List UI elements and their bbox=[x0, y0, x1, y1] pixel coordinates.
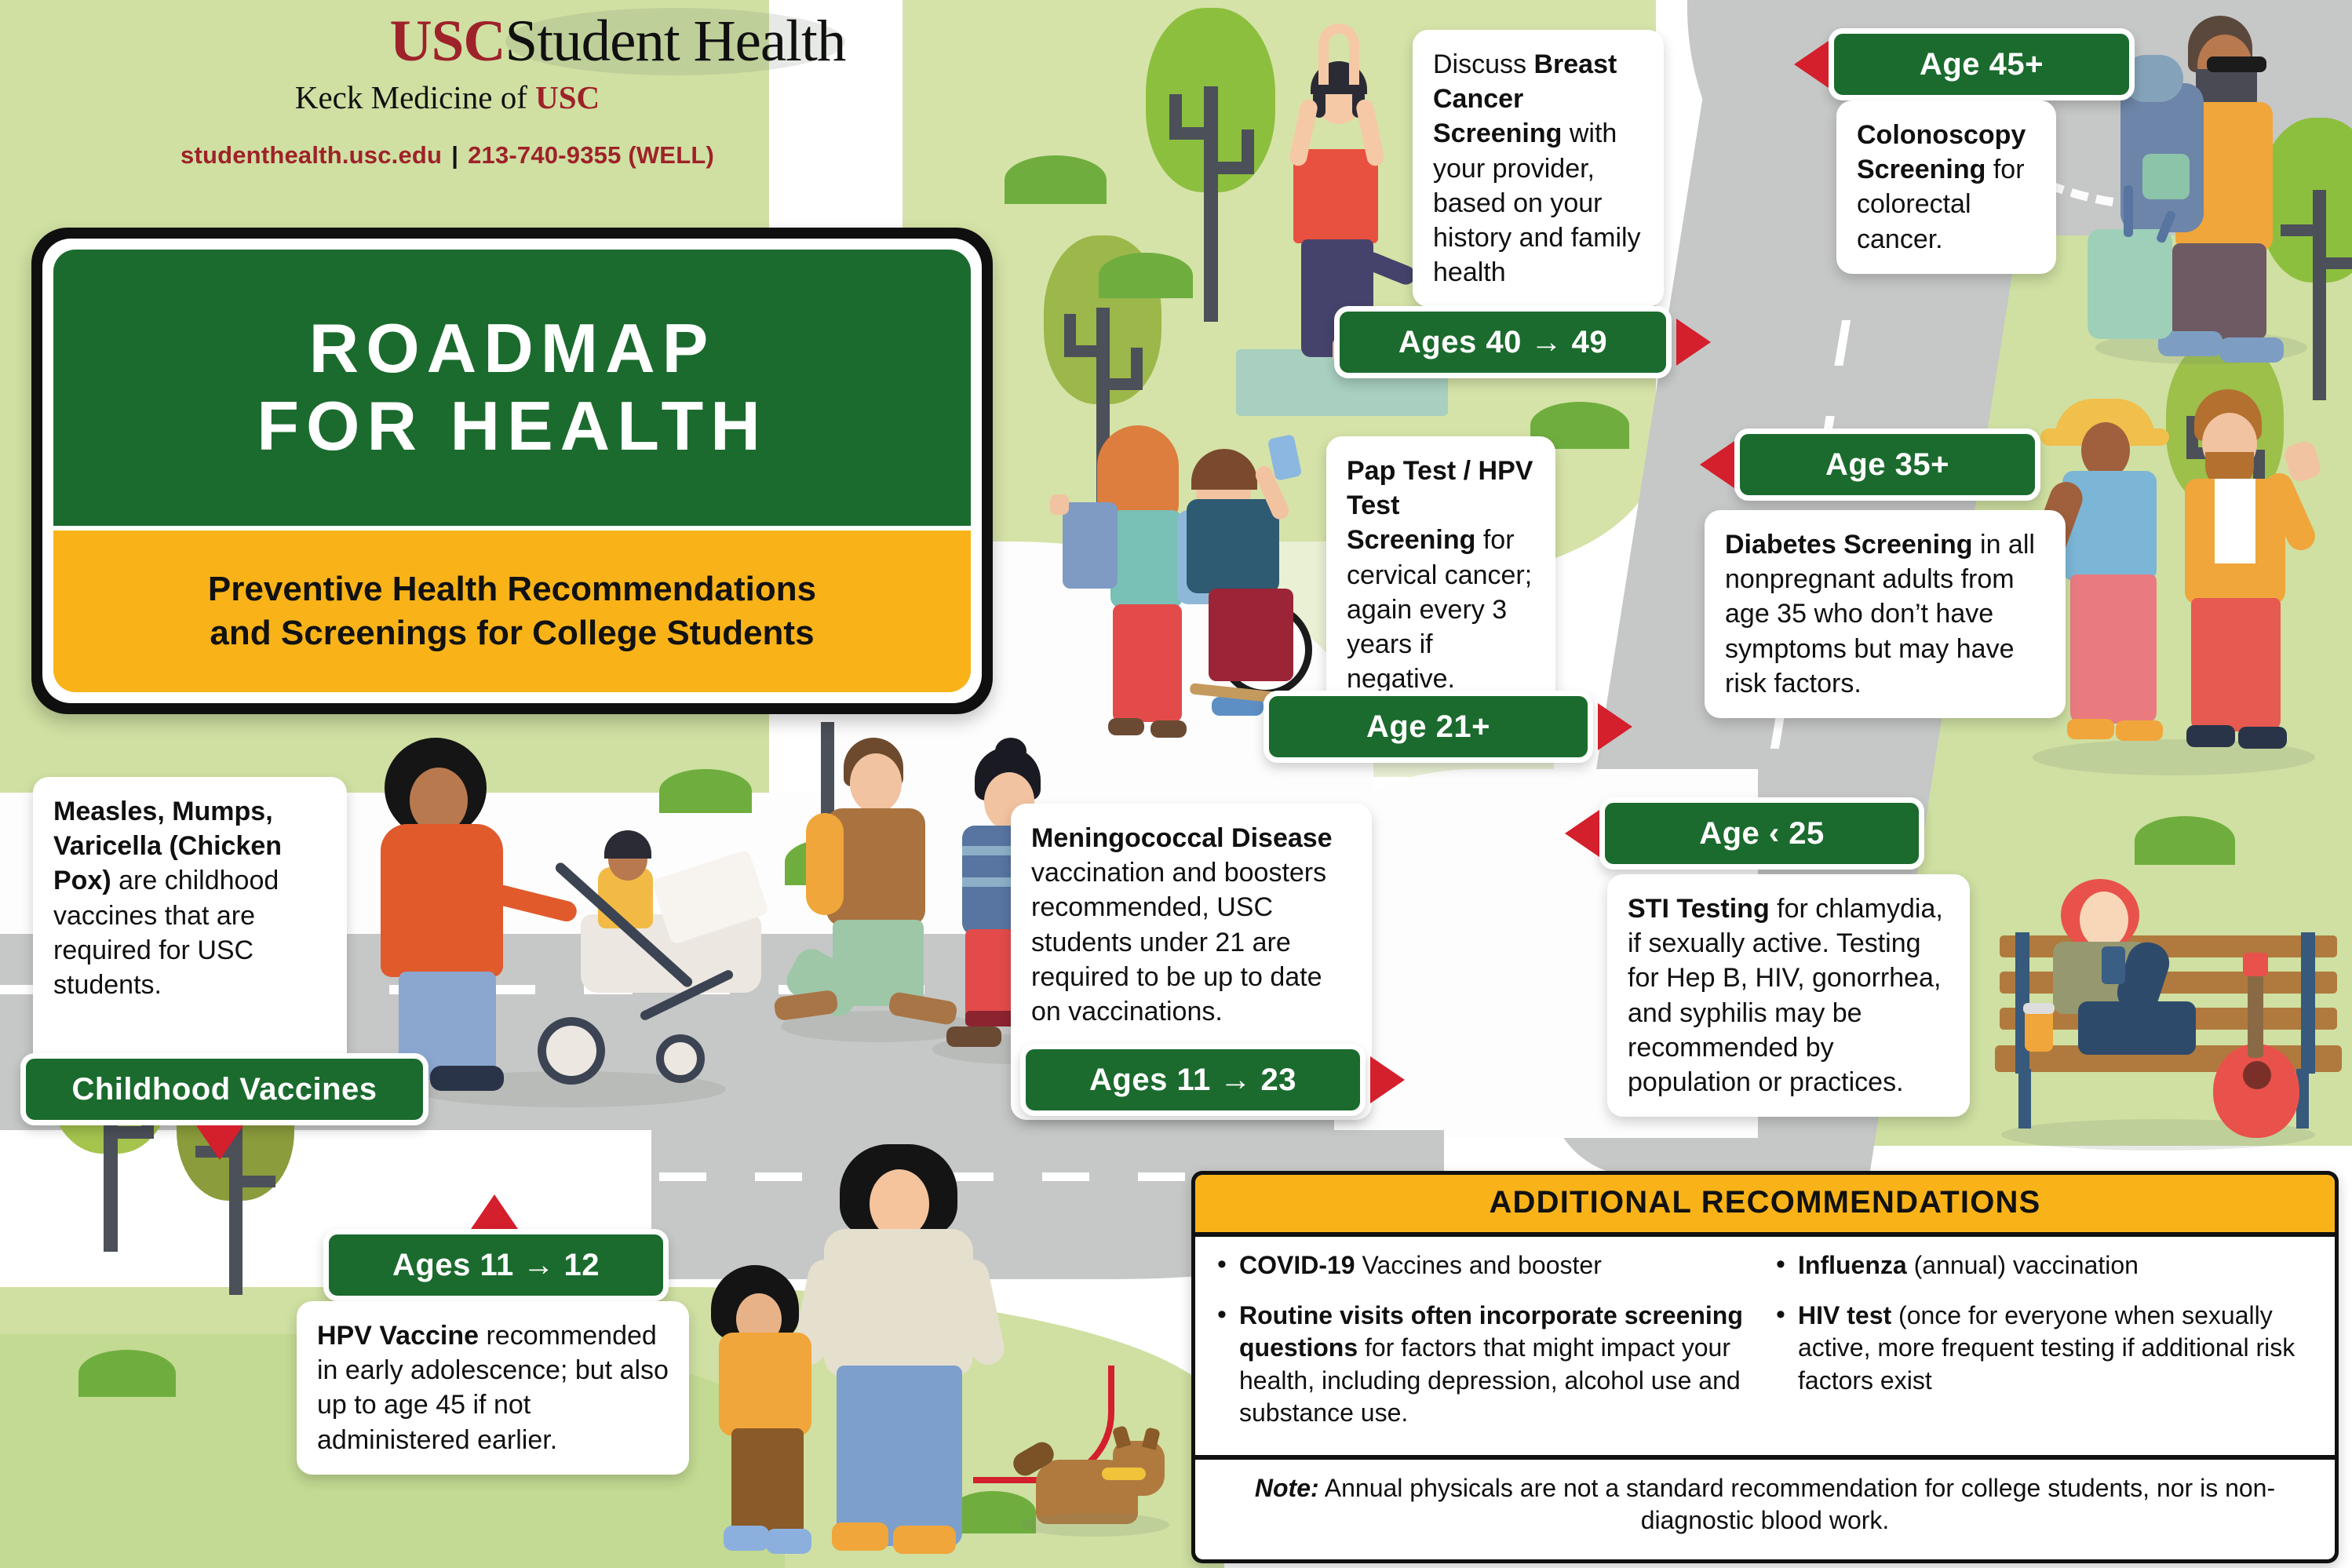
page-title-line-1: ROADMAP bbox=[309, 310, 716, 388]
marker-arrow-age-35-plus bbox=[1700, 441, 1734, 488]
sti-text-bold: STI Testing bbox=[1628, 894, 1770, 924]
influenza-rest: (annual) vaccination bbox=[1907, 1251, 2139, 1279]
keck-prefix: Keck Medicine of bbox=[295, 79, 535, 115]
usc-logo: USCStudent Health bbox=[149, 8, 746, 75]
additional-recommendations-inner: ADDITIONAL RECOMMENDATIONS COVID-19 Vacc… bbox=[1195, 1175, 2335, 1559]
diabetes-text-bold: Diabetes Screening bbox=[1725, 530, 1973, 560]
callout-childhood-vaccines: Measles, Mumps, Varicella (Chicken Pox) … bbox=[33, 777, 347, 1078]
bush-icon bbox=[78, 1350, 176, 1397]
page-title-line-2: FOR HEALTH bbox=[257, 388, 768, 465]
callout-sti-testing: STI Testing for chlamydia, if sexually a… bbox=[1607, 874, 1970, 1117]
callout-breast-cancer-screening: Discuss Breast Cancer Screening with you… bbox=[1413, 30, 1664, 307]
additional-left-list: COVID-19 Vaccines and booster Routine vi… bbox=[1211, 1249, 1760, 1430]
sign-ages-11-23[interactable]: Ages 11 → 23 bbox=[1020, 1044, 1366, 1116]
illustration-mother-child-dog bbox=[691, 1130, 1177, 1554]
list-item: Influenza (annual) vaccination bbox=[1770, 1249, 2319, 1282]
meningococcal-text-rest: vaccination and boosters recommended, US… bbox=[1031, 858, 1326, 1026]
marker-arrow-ages-40-49 bbox=[1676, 319, 1711, 366]
bush-icon bbox=[1099, 253, 1193, 298]
marker-arrow-ages-11-12 bbox=[471, 1194, 518, 1229]
marker-arrow-age-21-plus bbox=[1598, 703, 1632, 750]
breast-cancer-text-pre: Discuss bbox=[1433, 49, 1533, 79]
marker-arrow-age-under-25 bbox=[1565, 810, 1599, 857]
list-item: HIV test (once for everyone when sexuall… bbox=[1770, 1300, 2319, 1398]
keck-medicine-tagline: Keck Medicine of USC bbox=[149, 78, 746, 116]
sign-age-21-plus[interactable]: Age 21+ bbox=[1264, 691, 1593, 763]
list-item: Routine visits often incorporate screeni… bbox=[1211, 1300, 1760, 1430]
keck-usc: USC bbox=[535, 79, 600, 115]
covid-bold: COVID-19 bbox=[1239, 1251, 1355, 1279]
sign-childhood-vaccines[interactable]: Childhood Vaccines bbox=[20, 1053, 428, 1125]
callout-diabetes-screening: Diabetes Screening in all nonpregnant ad… bbox=[1705, 510, 2066, 718]
note-text: Annual physicals are not a standard reco… bbox=[1319, 1474, 2275, 1534]
additional-right-list: Influenza (annual) vaccination HIV test … bbox=[1770, 1249, 2319, 1397]
additional-recommendations-left-column: COVID-19 Vaccines and booster Routine vi… bbox=[1211, 1249, 1760, 1447]
marker-arrow-childhood-vaccines bbox=[196, 1125, 243, 1160]
callout-hpv-vaccine: HPV Vaccine recommended in early adolesc… bbox=[297, 1301, 689, 1475]
sign-age-45-plus[interactable]: Age 45+ bbox=[1829, 28, 2135, 100]
sign-age-under-25[interactable]: Age ‹ 25 bbox=[1599, 797, 1924, 870]
contact-line: studenthealth.usc.edu|213-740-9355 (WELL… bbox=[149, 141, 746, 170]
illustration-bench-guitar bbox=[1978, 848, 2352, 1161]
page-subtitle-line-1: Preventive Health Recommendations bbox=[181, 567, 843, 611]
hiv-test-bold: HIV test bbox=[1798, 1301, 1891, 1329]
main-sign-title-panel: ROADMAP FOR HEALTH bbox=[53, 250, 971, 526]
meningococcal-text-bold: Meningococcal Disease bbox=[1031, 823, 1333, 853]
callout-colonoscopy-screening: Colonoscopy Screening for colorectal can… bbox=[1836, 100, 2056, 274]
marker-arrow-ages-11-23 bbox=[1370, 1056, 1405, 1103]
main-sign-subtitle-panel: Preventive Health Recommendations and Sc… bbox=[53, 531, 971, 692]
additional-recommendations-note: Note: Annual physicals are not a standar… bbox=[1195, 1455, 2335, 1544]
sign-ages-11-12-label: Ages 11 → 12 bbox=[392, 1248, 600, 1283]
website-link[interactable]: studenthealth.usc.edu bbox=[181, 141, 442, 169]
sign-age-under-25-label: Age ‹ 25 bbox=[1699, 816, 1825, 851]
page-subtitle-line-2: and Screenings for College Students bbox=[183, 611, 841, 655]
main-sign-inner: ROADMAP FOR HEALTH Preventive Health Rec… bbox=[42, 239, 982, 703]
hpv-text-bold: HPV Vaccine bbox=[317, 1321, 479, 1351]
additional-recommendations-right-column: Influenza (annual) vaccination HIV test … bbox=[1770, 1249, 2319, 1447]
additional-recommendations-title: ADDITIONAL RECOMMENDATIONS bbox=[1195, 1175, 2335, 1237]
sign-ages-40-49[interactable]: Ages 40 → 49 bbox=[1334, 306, 1672, 378]
contact-divider: | bbox=[451, 141, 458, 169]
usc-brand-header: USCStudent Health Keck Medicine of USC s… bbox=[149, 8, 746, 170]
sign-ages-40-49-label: Ages 40 → 49 bbox=[1398, 325, 1607, 360]
influenza-bold: Influenza bbox=[1798, 1251, 1907, 1279]
sign-childhood-vaccines-label: Childhood Vaccines bbox=[71, 1072, 377, 1107]
sign-age-21-plus-label: Age 21+ bbox=[1366, 709, 1490, 745]
additional-recommendations-panel: ADDITIONAL RECOMMENDATIONS COVID-19 Vacc… bbox=[1191, 1171, 2339, 1563]
sti-text-rest: for chlamydia, if sexually active. Testi… bbox=[1628, 894, 1943, 1097]
bush-icon bbox=[1005, 155, 1107, 204]
list-item: COVID-19 Vaccines and booster bbox=[1211, 1249, 1760, 1282]
sign-ages-11-12[interactable]: Ages 11 → 12 bbox=[323, 1229, 669, 1301]
covid-rest: Vaccines and booster bbox=[1355, 1251, 1602, 1279]
usc-logo-usc: USC bbox=[389, 9, 505, 74]
main-roadmap-sign: ROADMAP FOR HEALTH Preventive Health Rec… bbox=[31, 228, 993, 714]
sign-ages-11-23-label: Ages 11 → 23 bbox=[1089, 1063, 1296, 1098]
callout-pap-hpv-test-screening: Pap Test / HPV Test Screening for cervic… bbox=[1326, 436, 1555, 713]
marker-arrow-age-45-plus bbox=[1794, 41, 1829, 88]
sign-age-35-plus[interactable]: Age 35+ bbox=[1734, 428, 2040, 501]
phone-number[interactable]: 213-740-9355 (WELL) bbox=[468, 141, 714, 169]
sign-age-45-plus-label: Age 45+ bbox=[1920, 47, 2044, 82]
additional-recommendations-columns: COVID-19 Vaccines and booster Routine vi… bbox=[1195, 1237, 2335, 1455]
sign-age-35-plus-label: Age 35+ bbox=[1825, 447, 1949, 483]
usc-logo-student-health: Student Health bbox=[505, 8, 846, 75]
infographic-root: USCStudent Health Keck Medicine of USC s… bbox=[0, 0, 2352, 1568]
note-label: Note: bbox=[1255, 1474, 1319, 1502]
